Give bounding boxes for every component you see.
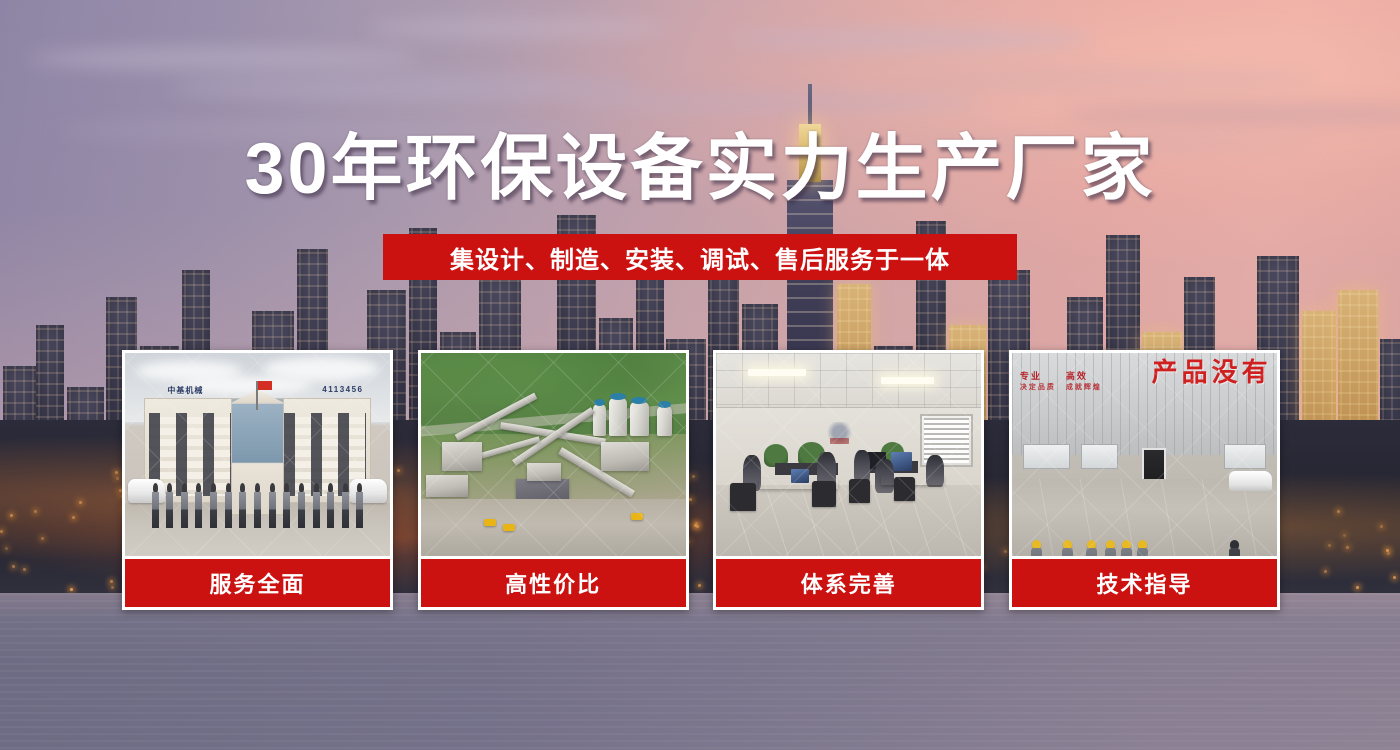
river-water: [0, 593, 1400, 750]
hero-banner: 30年环保设备实力生产厂家 集设计、制造、安装、调试、售后服务于一体 中基机械 …: [0, 0, 1400, 750]
staff-person: [327, 483, 334, 528]
feature-card-caption-text: 技术指导: [1096, 567, 1192, 599]
company-headquarters-photo: 中基机械 4113456: [125, 353, 390, 559]
tree-light: [72, 516, 75, 519]
feature-card[interactable]: 高性价比: [418, 350, 689, 610]
tree-light: [116, 477, 119, 480]
feature-card-row: 中基机械 4113456 服务全面: [122, 350, 1280, 610]
tree-light: [0, 530, 3, 533]
aerial-plant-photo: [421, 353, 686, 559]
tree-light: [1393, 576, 1396, 579]
staff-person: [210, 483, 217, 528]
tree-light: [5, 547, 8, 550]
feature-card[interactable]: 中基机械 4113456 服务全面: [122, 350, 393, 610]
feature-card-caption: 高性价比: [421, 559, 686, 607]
factory-banner-text: 产品没有: [1129, 359, 1272, 394]
tree-light: [79, 501, 82, 504]
staff-person: [283, 483, 290, 528]
tree-light: [1346, 546, 1349, 549]
feature-card[interactable]: 产品没有 专业决定品质 高效成就辉煌: [1009, 350, 1280, 610]
cloud: [364, 19, 672, 38]
feature-card-caption-text: 服务全面: [209, 567, 305, 599]
slogan-bottom: 成就辉煌: [1066, 382, 1102, 392]
staff-person: [225, 483, 232, 528]
page-title: 30年环保设备实力生产厂家: [0, 132, 1400, 208]
tree-light: [10, 514, 13, 517]
staff-person: [195, 483, 202, 528]
staff-person: [356, 483, 363, 528]
tree-light: [1343, 534, 1346, 537]
staff-person: [152, 483, 159, 528]
cloud: [28, 47, 420, 70]
slogan-bottom: 决定品质: [1020, 382, 1056, 392]
feature-card-caption: 体系完善: [716, 559, 981, 607]
feature-card-caption-text: 高性价比: [505, 567, 601, 599]
staff-lineup: [152, 483, 364, 528]
office-interior-photo: [716, 353, 981, 559]
tree-light: [110, 580, 113, 583]
cloud: [560, 93, 980, 112]
subtitle-text: 集设计、制造、安装、调试、售后服务于一体: [450, 240, 950, 275]
building-sign-text: 中基机械: [167, 385, 203, 396]
cloud: [896, 65, 1316, 93]
building-phone-text: 4113456: [322, 385, 363, 394]
tree-light: [41, 537, 44, 540]
cloud: [1064, 102, 1400, 125]
subtitle-bar: 集设计、制造、安装、调试、售后服务于一体: [383, 234, 1017, 280]
feature-card[interactable]: 体系完善: [713, 350, 984, 610]
slogan-top: 专业: [1020, 369, 1056, 382]
tree-light: [34, 510, 37, 513]
tree-light: [1380, 525, 1383, 528]
tree-light: [1337, 510, 1340, 513]
tree-light: [70, 588, 73, 591]
workers-training-photo: 产品没有 专业决定品质 高效成就辉煌: [1012, 353, 1277, 559]
staff-person: [342, 483, 349, 528]
cloud: [728, 28, 1092, 51]
staff-person: [313, 483, 320, 528]
slogan-top: 高效: [1066, 369, 1102, 382]
feature-card-caption: 服务全面: [125, 559, 390, 607]
tree-light: [12, 565, 15, 568]
staff-person: [181, 483, 188, 528]
tree-light: [1324, 570, 1327, 573]
tree-light: [1356, 586, 1359, 589]
staff-person: [269, 483, 276, 528]
tree-light: [1387, 552, 1390, 555]
tree-light: [1328, 544, 1331, 547]
feature-card-caption-text: 体系完善: [801, 567, 897, 599]
factory-slogan-text: 专业决定品质 高效成就辉煌: [1020, 369, 1131, 392]
tree-light: [111, 586, 114, 589]
staff-person: [166, 483, 173, 528]
feature-card-caption: 技术指导: [1012, 559, 1277, 607]
staff-person: [239, 483, 246, 528]
tree-light: [115, 471, 118, 474]
tree-light: [23, 568, 26, 571]
staff-person: [298, 483, 305, 528]
staff-person: [254, 483, 261, 528]
